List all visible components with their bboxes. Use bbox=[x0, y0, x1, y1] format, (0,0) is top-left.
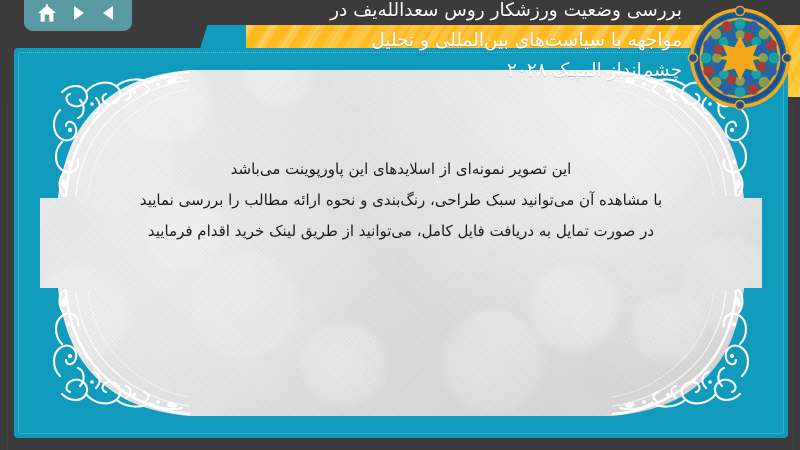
bokeh-circle bbox=[298, 318, 390, 410]
forward-button[interactable] bbox=[64, 0, 92, 26]
back-button[interactable] bbox=[95, 0, 123, 26]
slide-title-line-3: چشم‌انداز المپیک ۲۰۲۸ bbox=[250, 56, 682, 86]
home-button[interactable] bbox=[33, 0, 61, 26]
bokeh-circle bbox=[678, 232, 762, 334]
arabesque-corner-ornament bbox=[612, 284, 762, 416]
slide-body-line-2: با مشاهده آن می‌توانید سبک طراحی، رنگ‌بن… bbox=[62, 185, 740, 216]
slide-body-line-1: این تصویر نمونه‌ای از اسلایدهای این پاور… bbox=[62, 154, 740, 185]
slide-frame: این تصویر نمونه‌ای از اسلایدهای این پاور… bbox=[14, 48, 788, 438]
slide-body-line-3: در صورت تمایل به دریافت فایل کامل، می‌تو… bbox=[62, 216, 740, 247]
bokeh-circle bbox=[628, 288, 708, 368]
slide-title-line-2: مواجهه با سیاست‌های بین‌المللی و تحلیل bbox=[250, 26, 682, 56]
slide-title-line-1: بررسی وضعیت ورزشکار روس سعدالله‌یف در bbox=[250, 0, 682, 26]
navigation-toolbar bbox=[24, 0, 132, 31]
bokeh-circle bbox=[118, 70, 214, 148]
arabesque-corner-ornament bbox=[40, 284, 190, 416]
bokeh-circle bbox=[40, 260, 134, 364]
slide-title: بررسی وضعیت ورزشکار روس سعدالله‌یف در مو… bbox=[250, 0, 682, 86]
slide-canvas: این تصویر نمونه‌ای از اسلایدهای این پاور… bbox=[40, 70, 762, 416]
slide-preview-window: بررسی وضعیت ورزشکار روس سعدالله‌یف در مو… bbox=[0, 0, 800, 450]
bokeh-circle bbox=[526, 260, 622, 356]
bokeh-circle bbox=[438, 306, 548, 416]
slide-body-text: این تصویر نمونه‌ای از اسلایدهای این پاور… bbox=[40, 154, 762, 247]
persian-medallion-ornament bbox=[686, 4, 794, 112]
bokeh-circle bbox=[186, 246, 304, 364]
